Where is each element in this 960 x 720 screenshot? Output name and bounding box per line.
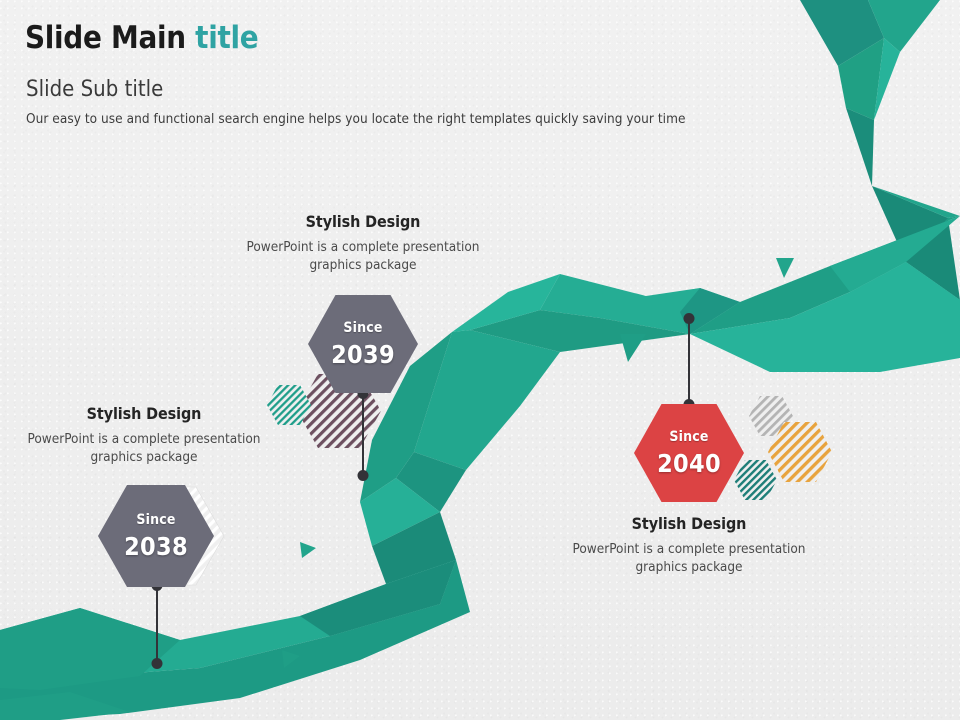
page-title-accent: title [195,20,258,56]
page-title-main: Slide Main [25,20,195,56]
caption-body-line2-2038: graphics package [22,448,266,466]
deco-hex-striped-teal-2039 [267,385,311,425]
caption-title-2038: Stylish Design [22,405,266,423]
connector-dot-top-2040 [684,313,695,324]
hex-since-label-2039: Since [343,321,382,335]
connector-line-2040 [688,318,690,406]
milestone-hexagon-2038[interactable]: Since 2038 [98,485,214,587]
slide-description: Our easy to use and functional search en… [26,111,686,127]
caption-body-line2-2040: graphics package [554,558,824,576]
triangle-decor-3 [300,542,316,558]
triangle-decor-2 [776,258,794,278]
slide-header: Slide Main title Slide Sub title Our eas… [25,22,686,127]
hex-year-2039: 2039 [331,342,395,367]
caption-body-line2-2039: graphics package [228,256,498,274]
hex-since-label-2040: Since [669,430,708,444]
connector-2040 [682,313,696,417]
page-title: Slide Main title [25,22,686,55]
milestone-hexagon-2040[interactable]: Since 2040 [634,404,744,502]
connector-2039 [356,388,370,492]
connector-dot-bottom-2039 [358,470,369,481]
deco-hex-striped-orange-2040 [768,422,832,482]
caption-body-line1-2039: PowerPoint is a complete presentation [228,238,498,256]
caption-2040: Stylish Design PowerPoint is a complete … [554,515,824,576]
connector-line-2038 [156,585,158,665]
hex-year-2038: 2038 [124,534,188,559]
triangle-decor-4 [282,650,300,668]
caption-title-2039: Stylish Design [228,213,498,231]
caption-body-line1-2038: PowerPoint is a complete presentation [22,430,266,448]
ribbon-bottom [0,560,480,720]
caption-2039: Stylish Design PowerPoint is a complete … [228,213,498,274]
deco-hex-striped-gray-2040 [749,396,793,436]
connector-2038 [150,580,164,676]
presentation-slide: Slide Main title Slide Sub title Our eas… [0,0,960,720]
connector-dot-bottom-2038 [152,658,163,669]
ribbon-center-main [452,216,960,388]
ribbon-top-right-lower [872,88,960,358]
hex-year-2040: 2040 [657,451,721,476]
slide-subtitle: Slide Sub title [26,78,686,102]
connector-line-2039 [362,393,364,477]
caption-2038: Stylish Design PowerPoint is a complete … [22,405,266,466]
hex-since-label-2038: Since [136,513,175,527]
triangle-decor-1 [620,334,646,362]
caption-title-2040: Stylish Design [554,515,824,533]
ribbon-bottom-left-small [0,692,130,720]
milestone-hexagon-2039[interactable]: Since 2039 [308,295,418,393]
caption-body-line1-2040: PowerPoint is a complete presentation [554,540,824,558]
ribbon-top-right [800,0,960,186]
deco-hex-striped-tealdark-2040 [734,460,777,500]
